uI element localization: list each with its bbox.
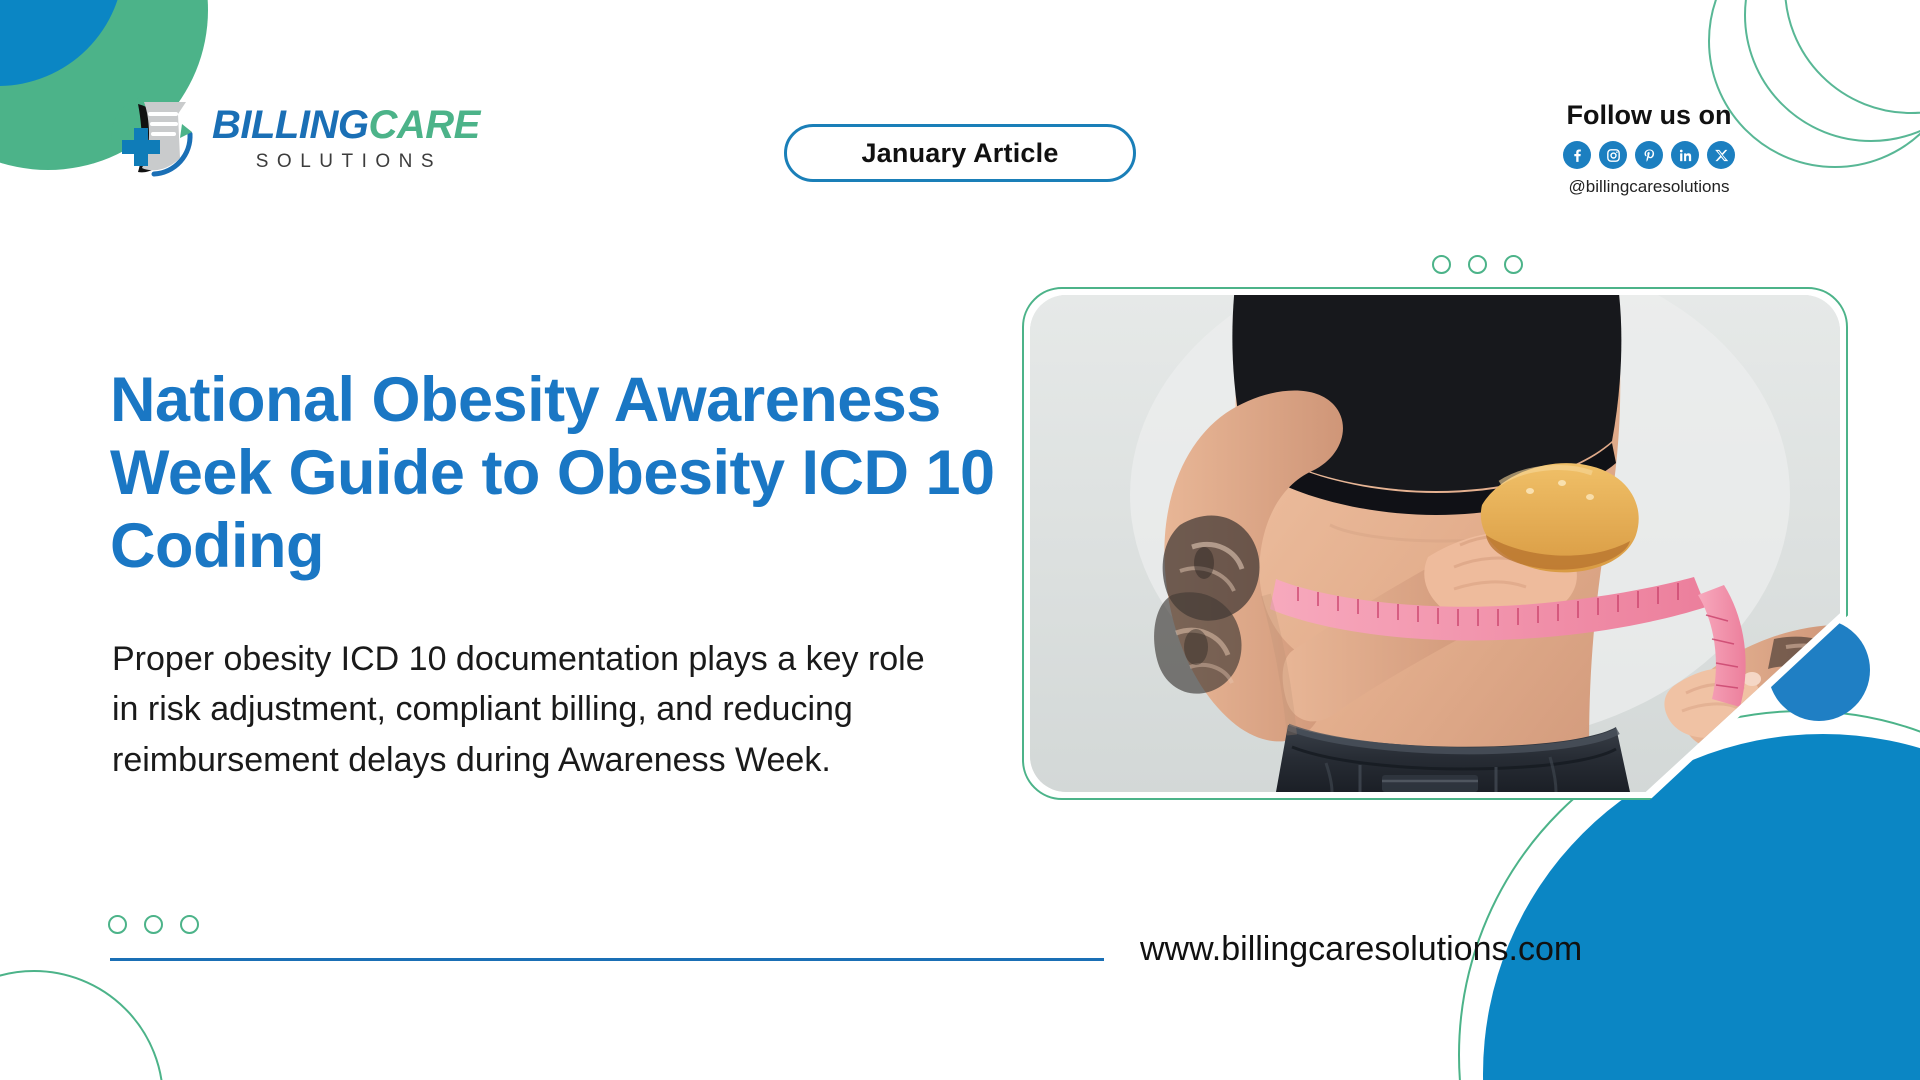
hero-dot-decoration <box>1432 255 1523 274</box>
header: BILLINGCARE SOLUTIONS January Article Fo… <box>0 0 1920 220</box>
hero-image <box>1030 295 1840 792</box>
instagram-icon[interactable] <box>1599 141 1627 169</box>
brand-word-care: CARE <box>368 103 479 147</box>
social-icon-list <box>1474 141 1824 169</box>
dot-ring <box>1468 255 1487 274</box>
dot-ring <box>180 915 199 934</box>
footer-divider <box>110 958 1104 961</box>
page-description: Proper obesity ICD 10 documentation play… <box>112 634 942 785</box>
brand-logo-text: BILLINGCARE SOLUTIONS <box>212 101 480 171</box>
dot-ring <box>108 915 127 934</box>
x-twitter-icon[interactable] <box>1707 141 1735 169</box>
poster-canvas: BILLINGCARE SOLUTIONS January Article Fo… <box>0 0 1920 1080</box>
article-month-badge-label: January Article <box>861 138 1058 169</box>
pinterest-icon[interactable] <box>1635 141 1663 169</box>
facebook-icon[interactable] <box>1563 141 1591 169</box>
brand-wordmark: BILLINGCARE <box>212 105 480 145</box>
footer-dot-decoration <box>108 915 199 934</box>
social-follow-title: Follow us on <box>1474 100 1824 131</box>
brand-logo[interactable]: BILLINGCARE SOLUTIONS <box>104 88 480 184</box>
article-month-badge[interactable]: January Article <box>784 124 1136 182</box>
bottom-left-green-arc-decoration <box>0 970 164 1080</box>
brand-subtitle: SOLUTIONS <box>212 152 480 171</box>
dot-ring <box>1432 255 1451 274</box>
page-title: National Obesity Awareness Week Guide to… <box>110 364 1010 583</box>
dot-ring <box>144 915 163 934</box>
website-url[interactable]: www.billingcaresolutions.com <box>1140 930 1582 969</box>
social-handle: @billingcaresolutions <box>1474 177 1824 197</box>
dot-ring <box>1504 255 1523 274</box>
social-follow-block: Follow us on @billingcaresolutions <box>1474 100 1824 197</box>
linkedin-icon[interactable] <box>1671 141 1699 169</box>
medical-cross-document-icon <box>104 88 200 184</box>
brand-word-billing: BILLING <box>212 103 368 147</box>
